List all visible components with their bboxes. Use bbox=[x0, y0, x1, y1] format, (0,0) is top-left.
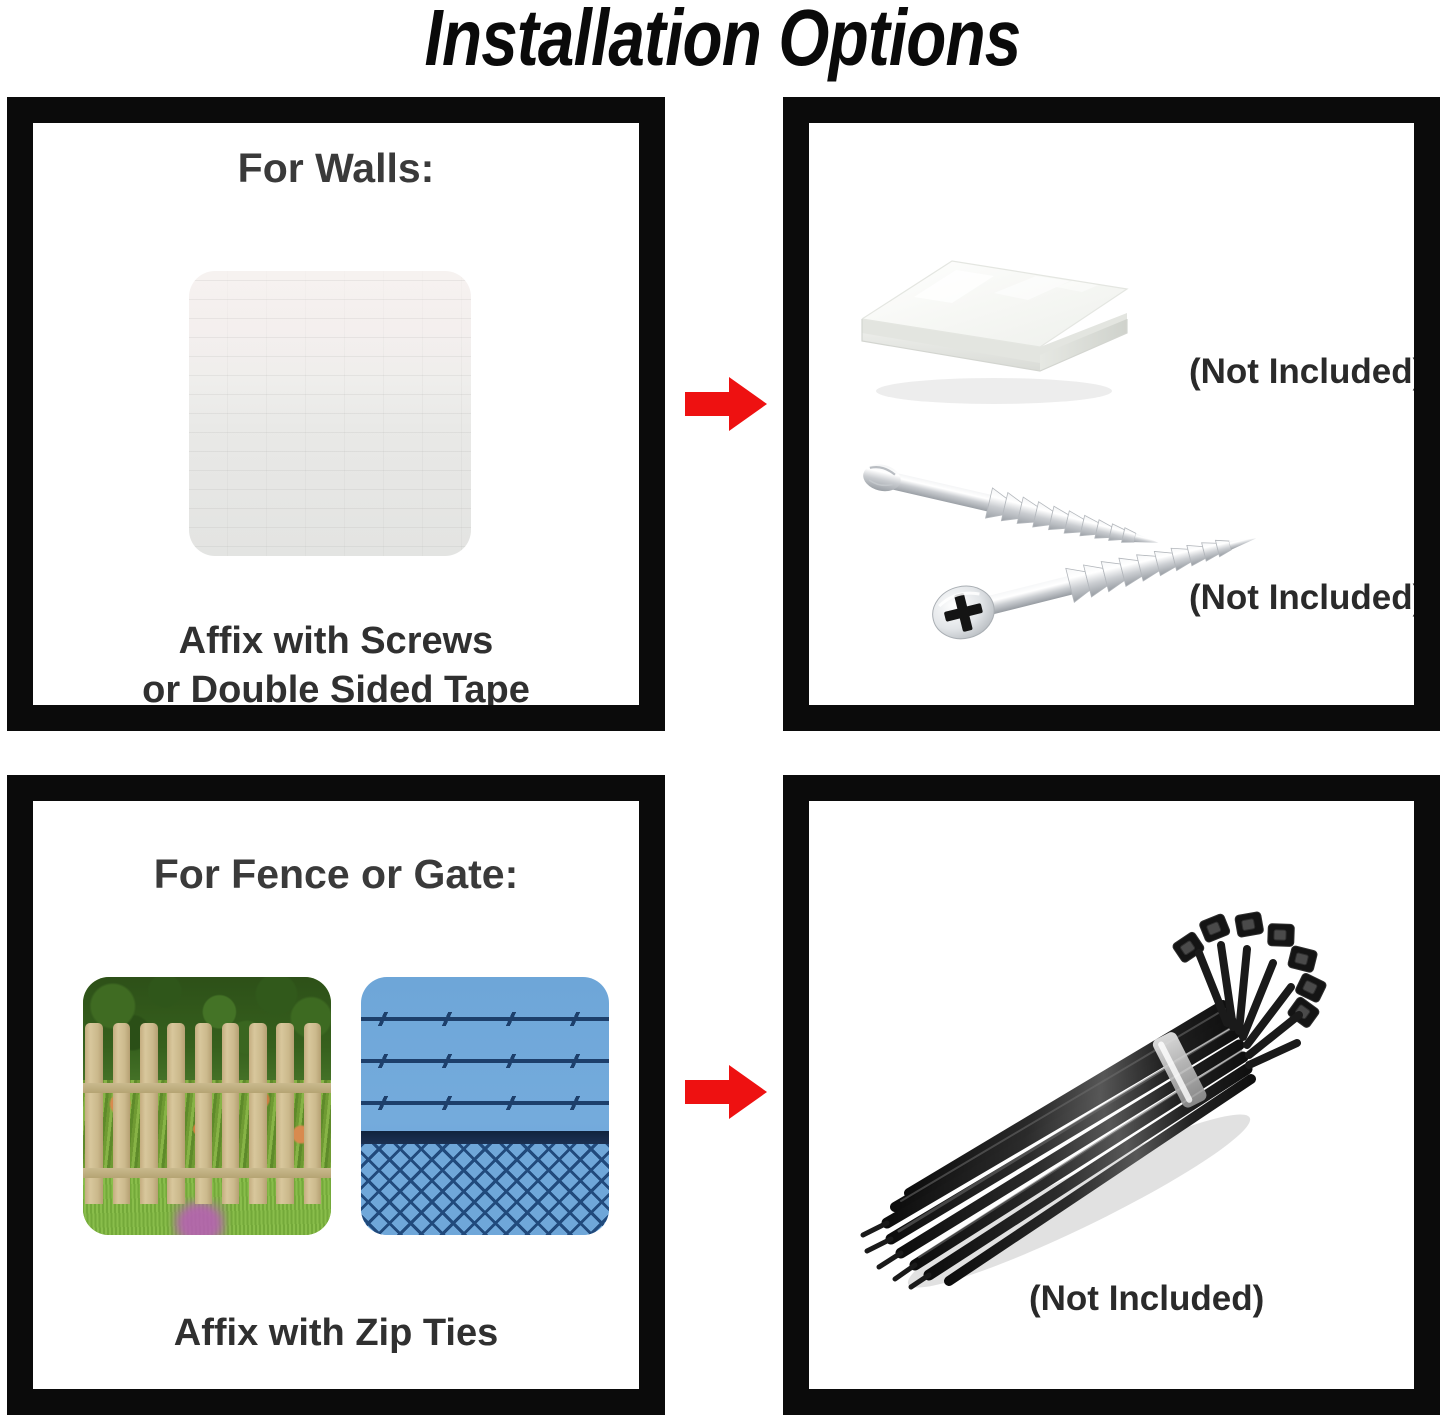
panel-for-fence-or-gate: For Fence or Gate: bbox=[7, 775, 665, 1415]
purple-path-patch bbox=[172, 1199, 227, 1235]
tape-not-included-label: (Not Included) bbox=[1189, 352, 1414, 392]
panel-zip-ties-content: (Not Included) bbox=[809, 801, 1414, 1389]
for-walls-caption-line2: or Double Sided Tape bbox=[33, 666, 639, 705]
for-fence-caption: Affix with Zip Ties bbox=[33, 1309, 639, 1358]
infographic-root: Installation Options For Walls: Affix wi… bbox=[0, 0, 1445, 1422]
red-right-arrow-top bbox=[685, 375, 767, 433]
fence-pickets bbox=[83, 1023, 331, 1204]
screws-not-included-label: (Not Included) bbox=[1189, 578, 1414, 618]
double-sided-tape-stack bbox=[844, 223, 1144, 413]
panel-wall-hardware: (Not Included) bbox=[783, 97, 1440, 731]
for-walls-heading: For Walls: bbox=[33, 145, 639, 192]
white-brick-wall-swatch bbox=[189, 271, 471, 556]
panel-for-fence-content: For Fence or Gate: bbox=[33, 801, 639, 1389]
for-walls-caption-line1: Affix with Screws bbox=[33, 617, 639, 666]
fence-top-rail bbox=[361, 1131, 609, 1144]
panel-zip-ties: (Not Included) bbox=[783, 775, 1440, 1415]
barbed-wire-strand bbox=[361, 1017, 609, 1021]
panel-wall-hardware-content: (Not Included) bbox=[809, 123, 1414, 705]
red-right-arrow-bottom bbox=[685, 1063, 767, 1121]
panel-for-walls-content: For Walls: Affix with Screws or Double S… bbox=[33, 123, 639, 705]
barbed-wire-strand bbox=[361, 1059, 609, 1063]
barbed-wire-strand bbox=[361, 1101, 609, 1105]
black-zip-ties-bundle bbox=[829, 901, 1349, 1291]
for-fence-heading: For Fence or Gate: bbox=[33, 851, 639, 898]
panel-for-walls: For Walls: Affix with Screws or Double S… bbox=[7, 97, 665, 731]
page-title: Installation Options bbox=[130, 0, 1315, 80]
chain-link-mesh bbox=[361, 1144, 609, 1235]
chain-link-barbed-wire-fence-photo bbox=[361, 977, 609, 1235]
zipties-not-included-label: (Not Included) bbox=[1029, 1279, 1264, 1319]
wooden-picket-fence-photo bbox=[83, 977, 331, 1235]
